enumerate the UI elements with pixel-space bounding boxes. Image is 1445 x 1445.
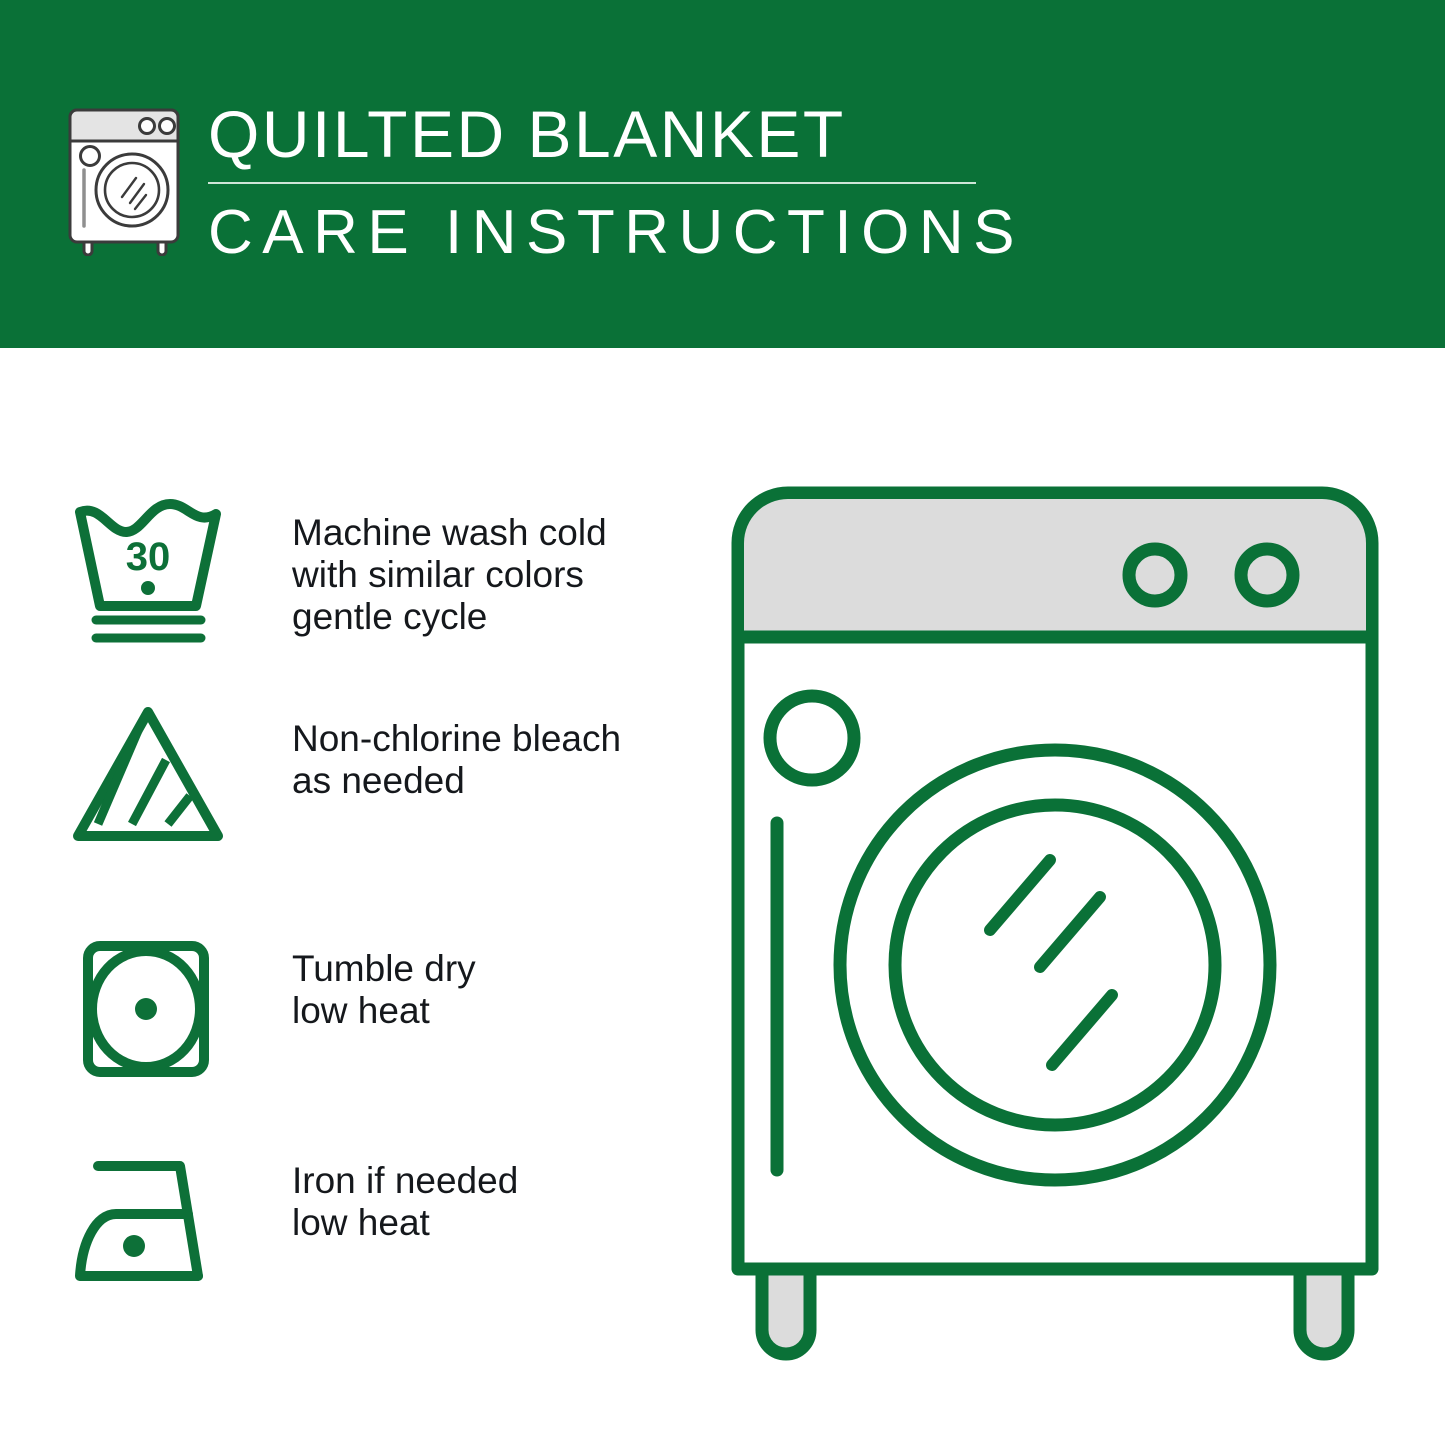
page-subtitle: CARE INSTRUCTIONS	[208, 198, 998, 268]
machine-door-inner	[895, 805, 1215, 1125]
care-instructions-infographic: QUILTED BLANKET CARE INSTRUCTIONS 30	[0, 0, 1445, 1445]
front-load-washing-machine-illustration	[700, 455, 1400, 1385]
care-item-label: Non-chlorine bleach as needed	[292, 704, 621, 802]
care-item-label: Iron if needed low heat	[292, 1146, 518, 1244]
machine-knob-left	[1129, 549, 1181, 601]
care-item-iron: Iron if needed low heat	[70, 1146, 690, 1301]
machine-wash-30-gentle-symbol: 30	[70, 498, 230, 653]
non-chlorine-bleach-symbol	[70, 704, 230, 859]
care-item-bleach: Non-chlorine bleach as needed	[70, 704, 690, 859]
care-item-machine-wash: 30 Machine wash cold with similar colors…	[70, 498, 690, 653]
care-instruction-list: 30 Machine wash cold with similar colors…	[0, 348, 700, 1445]
header-text-block: QUILTED BLANKET CARE INSTRUCTIONS	[208, 98, 998, 268]
care-item-label: Tumble dry low heat	[292, 934, 476, 1032]
wash-temperature-label: 30	[126, 535, 171, 579]
washing-machine-icon	[66, 104, 188, 256]
page-title: QUILTED BLANKET	[208, 98, 998, 170]
detergent-button	[770, 696, 854, 780]
machine-knob-right	[1241, 549, 1293, 601]
care-item-tumble-dry: Tumble dry low heat	[70, 934, 690, 1089]
care-item-label: Machine wash cold with similar colors ge…	[292, 498, 607, 638]
header-divider	[208, 182, 976, 184]
iron-low-heat-symbol	[70, 1146, 230, 1301]
tumble-dry-low-symbol	[70, 934, 230, 1089]
header-band: QUILTED BLANKET CARE INSTRUCTIONS	[0, 0, 1445, 348]
